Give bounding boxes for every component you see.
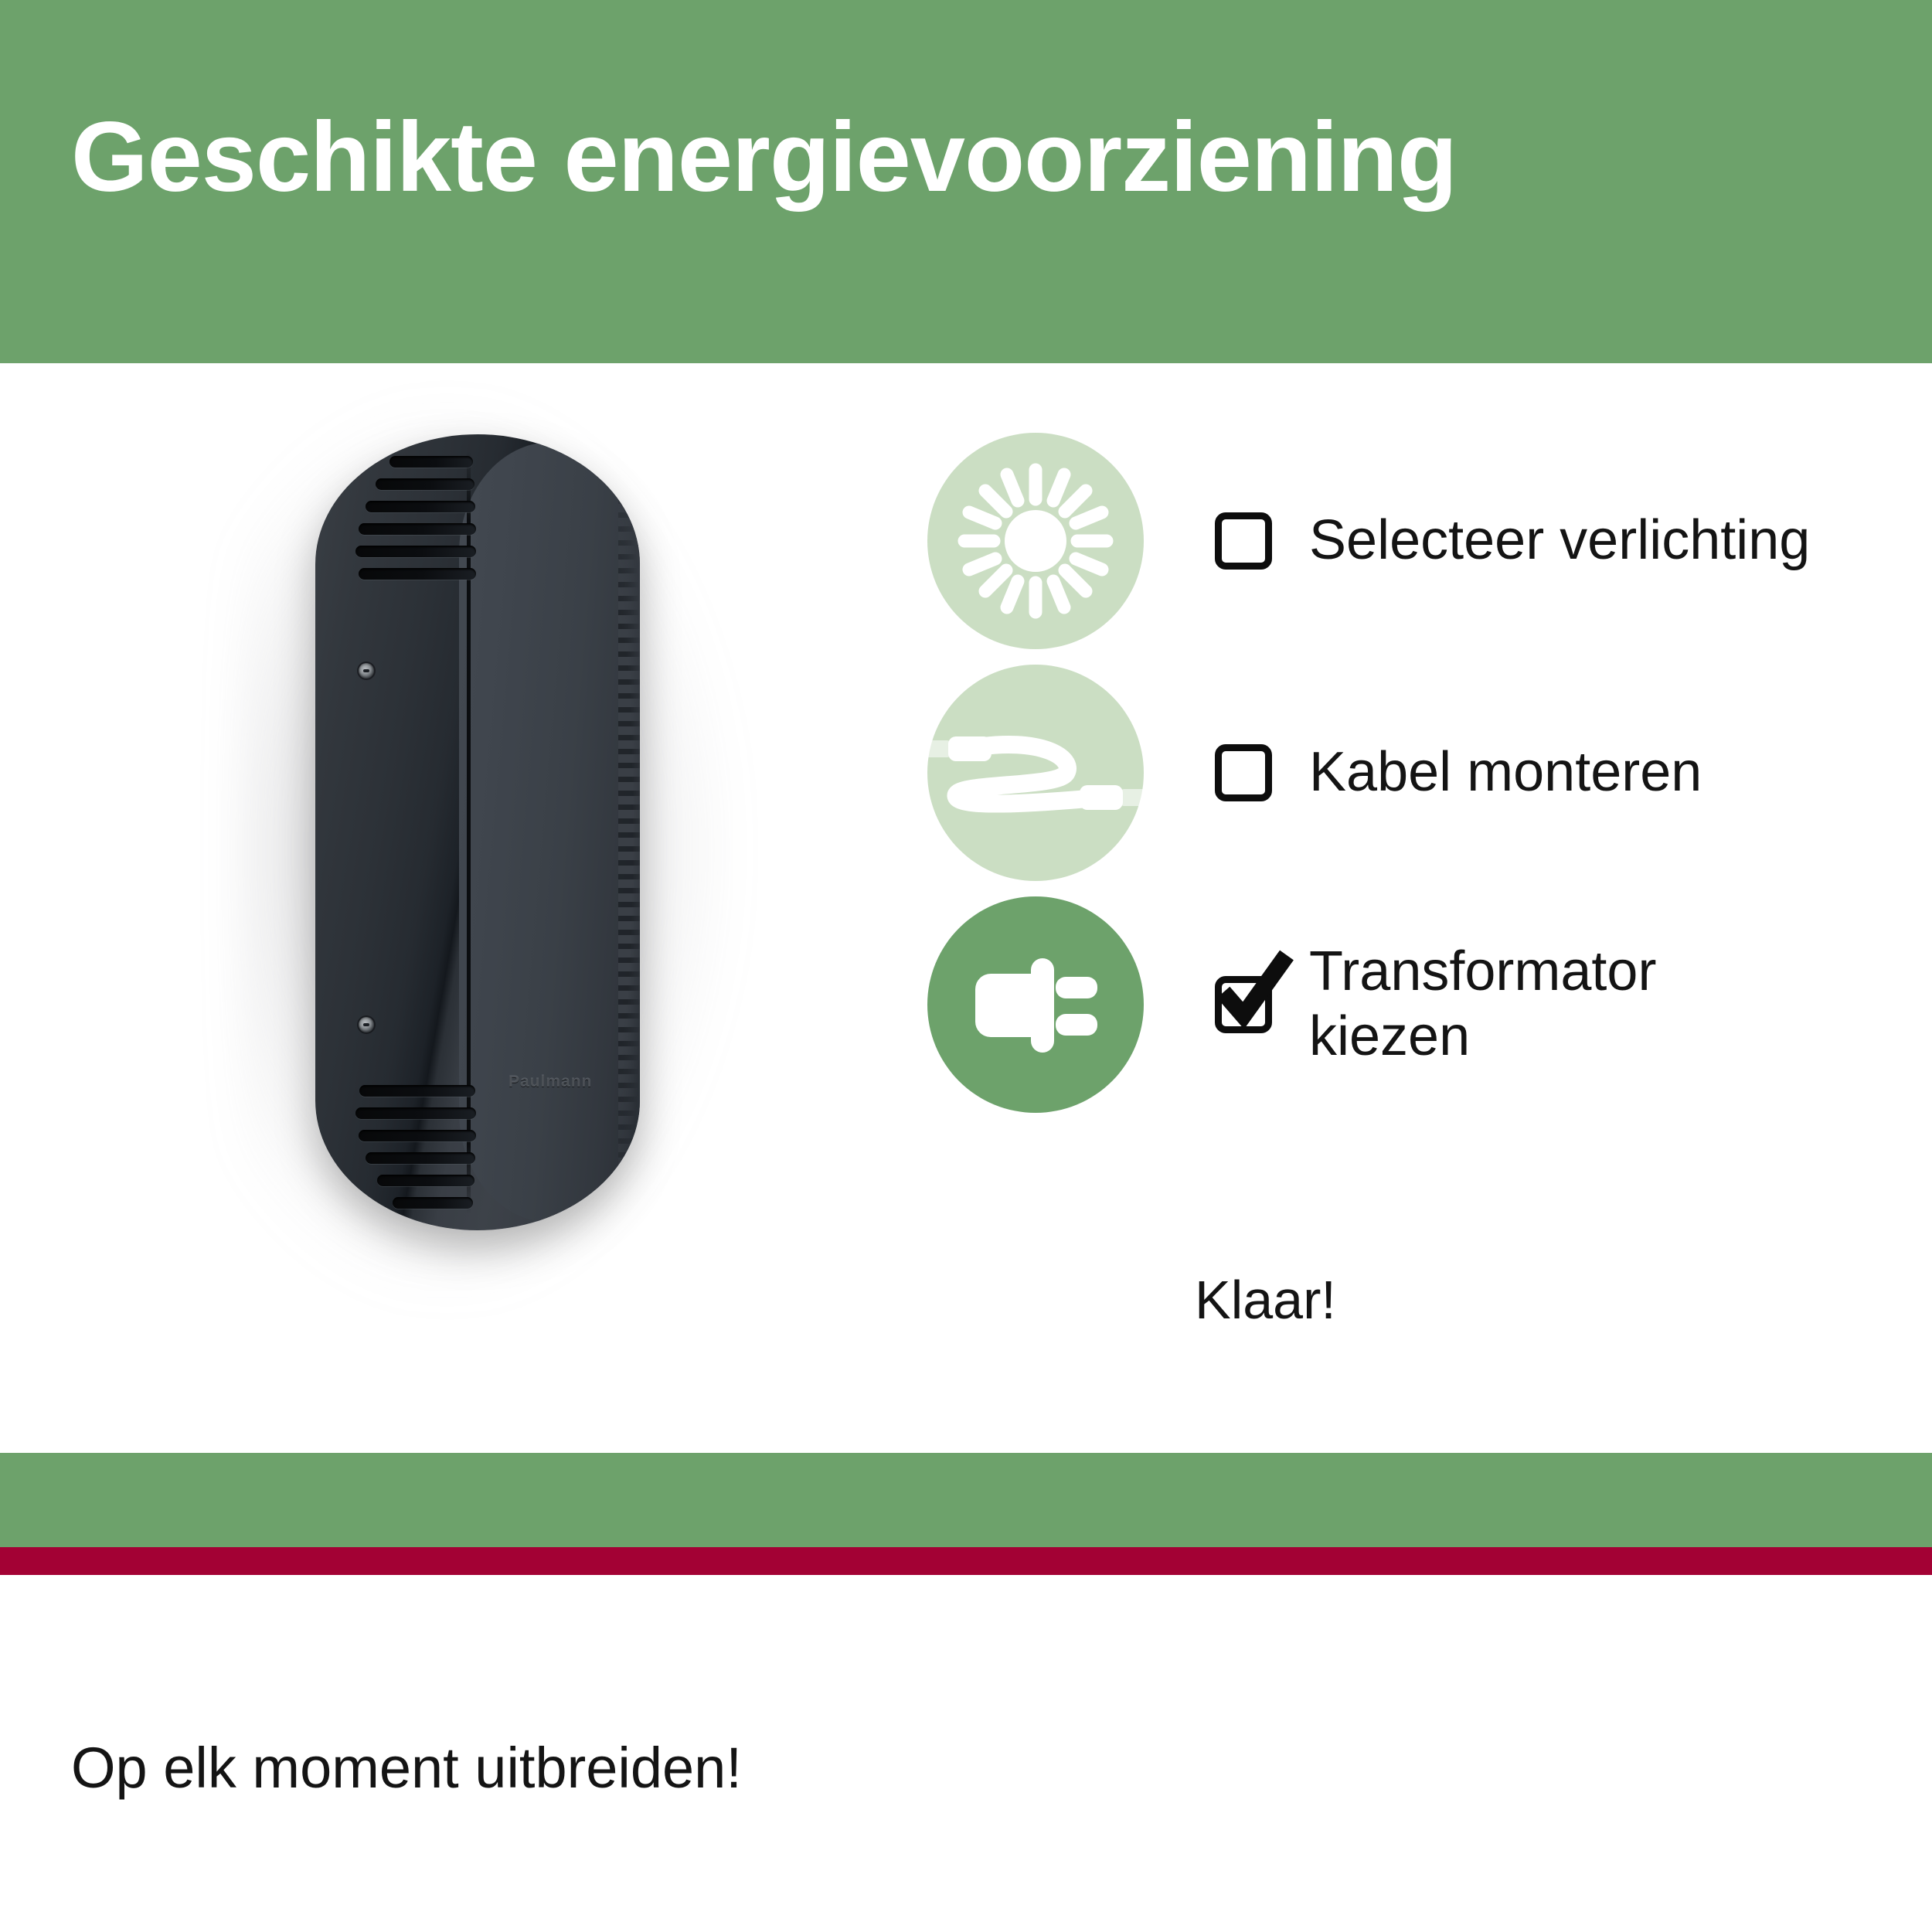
checklist-item-control[interactable]: Selecteer verlichting bbox=[1215, 509, 1810, 573]
lamp-vents-top bbox=[355, 456, 476, 580]
vent-slat bbox=[359, 1130, 476, 1141]
check-mark-icon bbox=[1209, 944, 1296, 1031]
vent-slat bbox=[359, 523, 476, 535]
footer-caption: Op elk moment uitbreiden! bbox=[71, 1735, 742, 1801]
vent-slat bbox=[359, 568, 476, 580]
checklist-item-control[interactable]: Transformator kiezen bbox=[1215, 940, 1656, 1069]
checklist-item-label: Kabel monteren bbox=[1309, 740, 1702, 805]
page-title: Geschikte energievoorziening bbox=[71, 108, 1457, 207]
checklist-item-select-lighting[interactable]: Selecteer verlichting bbox=[927, 425, 1886, 657]
vent-slat bbox=[355, 546, 476, 557]
checklist-item-label: Selecteer verlichting bbox=[1309, 509, 1810, 573]
footer-green-band bbox=[0, 1453, 1932, 1547]
checklist-item-control[interactable]: Kabel monteren bbox=[1215, 740, 1702, 805]
checklist: Selecteer verlichting Kabel monteren bbox=[927, 425, 1886, 1121]
lamp-ribbed-edge bbox=[618, 448, 640, 1216]
checklist-item-choose-transformer[interactable]: Transformator kiezen bbox=[927, 889, 1886, 1121]
plug-icon bbox=[927, 896, 1144, 1113]
lamp-front-cap bbox=[459, 442, 640, 1223]
vent-slat bbox=[376, 478, 474, 490]
screw-icon bbox=[359, 1017, 374, 1032]
main-content: Paulmann bbox=[0, 363, 1932, 1453]
footer-accent-band bbox=[0, 1547, 1932, 1575]
checkbox-mount-cable[interactable] bbox=[1215, 744, 1272, 801]
screw-icon bbox=[359, 663, 374, 679]
vent-slat bbox=[389, 456, 473, 468]
product-image: Paulmann bbox=[286, 386, 719, 1298]
brand-logo: Paulmann bbox=[509, 1073, 592, 1091]
cable-icon bbox=[927, 665, 1144, 881]
vent-slat bbox=[355, 1107, 476, 1119]
sun-icon bbox=[927, 433, 1144, 649]
checklist-item-label: Transformator kiezen bbox=[1309, 940, 1656, 1069]
checkbox-select-lighting[interactable] bbox=[1215, 512, 1272, 570]
vent-slat bbox=[393, 1197, 473, 1209]
checkbox-choose-transformer[interactable] bbox=[1215, 976, 1272, 1033]
vent-slat bbox=[359, 1085, 475, 1097]
vent-slat bbox=[377, 1175, 474, 1186]
done-text: Klaar! bbox=[1195, 1269, 1336, 1331]
vent-slat bbox=[366, 1152, 475, 1164]
wall-lamp-body: Paulmann bbox=[315, 434, 640, 1230]
vent-slat bbox=[366, 501, 475, 512]
lamp-vents-bottom bbox=[355, 1085, 476, 1209]
header-band: Geschikte energievoorziening bbox=[0, 0, 1932, 363]
checklist-item-mount-cable[interactable]: Kabel monteren bbox=[927, 657, 1886, 889]
